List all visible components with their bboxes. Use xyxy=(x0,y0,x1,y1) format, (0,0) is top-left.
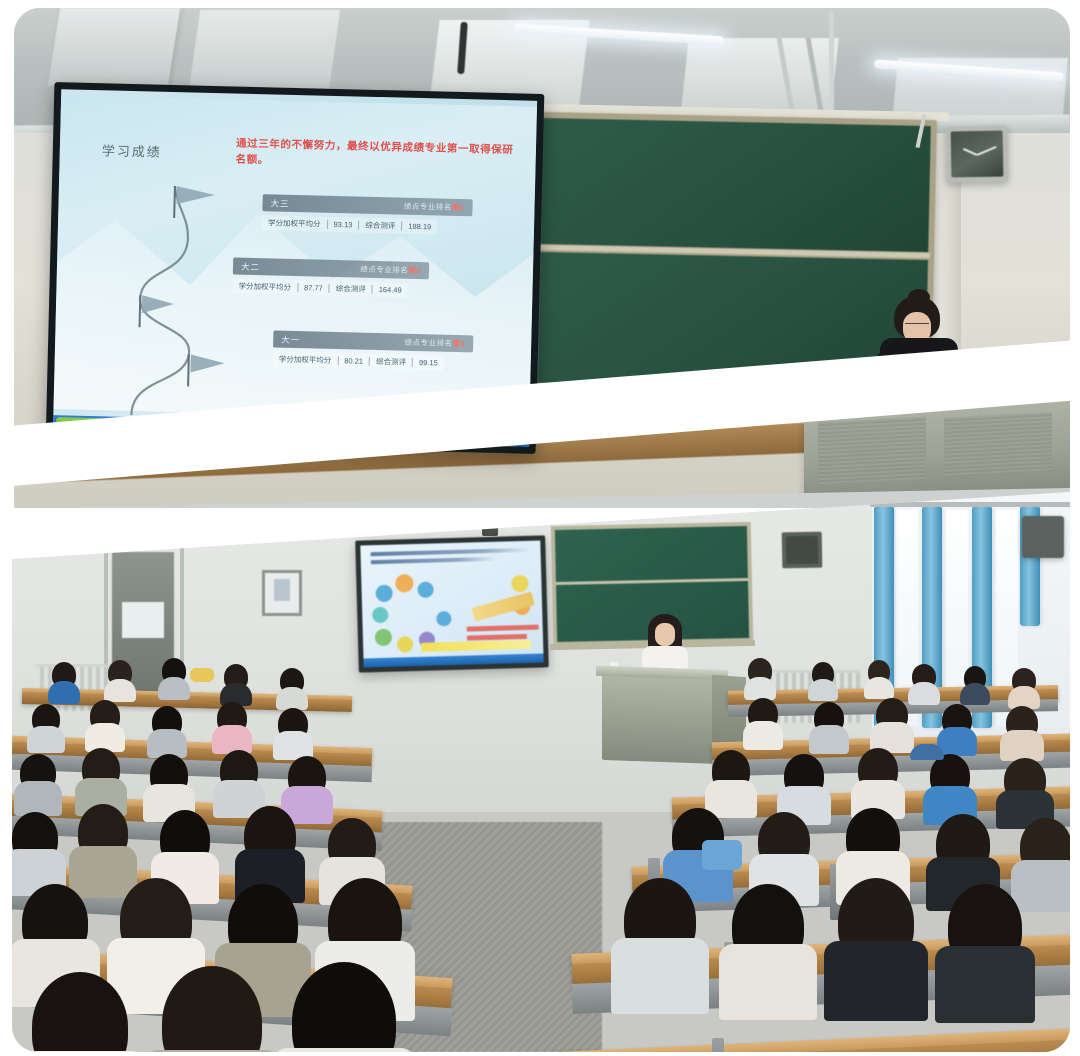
metric-value: 188.19 xyxy=(408,222,431,232)
photo-bottom-lecture-audience xyxy=(12,492,1070,1052)
student xyxy=(90,700,120,732)
student xyxy=(162,658,186,684)
student xyxy=(1004,758,1046,802)
student xyxy=(228,884,298,966)
slide-row-year-label: 大一 xyxy=(281,333,300,345)
slide-row-year-label: 大二 xyxy=(241,260,260,272)
student xyxy=(150,754,188,796)
student xyxy=(936,814,990,874)
student xyxy=(120,878,192,962)
student xyxy=(964,666,986,690)
student xyxy=(280,668,304,694)
podium-vent-grille xyxy=(944,412,1052,478)
projection-screen-frame xyxy=(355,535,549,672)
metric-value: 87.77 xyxy=(304,283,323,292)
student xyxy=(108,660,132,686)
face xyxy=(655,623,675,646)
diagram-bubble xyxy=(397,636,413,652)
student xyxy=(288,756,326,798)
clock-face xyxy=(951,131,1004,178)
projector-pole xyxy=(488,492,492,524)
student xyxy=(12,812,58,864)
backpack xyxy=(190,668,214,682)
slide-row-bar: 大三 绩点专业排名第1 xyxy=(262,194,472,216)
student xyxy=(1020,818,1070,876)
student xyxy=(1012,668,1036,693)
student xyxy=(812,662,834,686)
diagram-bubble xyxy=(511,575,528,592)
baseball-cap xyxy=(910,744,944,760)
student xyxy=(220,750,258,792)
wall-speaker xyxy=(1022,516,1064,558)
student xyxy=(624,878,696,962)
student xyxy=(748,698,778,730)
blackboard-divider xyxy=(556,578,748,585)
door-window xyxy=(122,602,164,638)
student xyxy=(942,704,972,736)
metric-label: 学分加权平均分 xyxy=(238,281,291,293)
student xyxy=(152,706,182,738)
backpack xyxy=(702,840,742,870)
framed-notice xyxy=(262,570,302,616)
podium-bottom xyxy=(602,666,722,764)
ceiling-beam xyxy=(188,10,340,98)
metric-value: 99.15 xyxy=(419,358,438,367)
ceiling-projector xyxy=(482,522,498,536)
blackboard-panel-upper xyxy=(540,118,931,252)
student xyxy=(328,818,376,872)
slide-row-rank: 绩点专业排名第1 xyxy=(404,201,465,213)
metric-label: 综合测评 xyxy=(365,220,395,232)
metric-value: 80.21 xyxy=(344,356,363,365)
student xyxy=(948,884,1022,970)
clock-hour-hand xyxy=(963,148,978,156)
metric-label: 综合测评 xyxy=(336,283,366,295)
student xyxy=(868,660,890,684)
slide-row-bar: 大一 绩点专业排名第3 xyxy=(273,330,473,352)
slide-row-year: 大一 绩点专业排名第3 学分加权平均分 80.21 综合测评 99.15 xyxy=(273,330,474,371)
diagram-highlight-banner xyxy=(421,640,531,652)
student xyxy=(224,664,248,690)
diagram-center-label xyxy=(408,609,450,620)
student xyxy=(838,878,914,966)
diagram-note-line xyxy=(467,625,539,632)
student xyxy=(912,664,936,689)
metric-label: 学分加权平均分 xyxy=(268,217,321,229)
student xyxy=(784,754,824,798)
student xyxy=(1006,706,1038,740)
student xyxy=(217,702,247,734)
metric-label: 综合测评 xyxy=(376,356,406,368)
windows-taskbar[interactable] xyxy=(363,653,543,667)
diagram-bubble xyxy=(375,585,392,602)
student xyxy=(748,658,772,684)
ceiling-beam xyxy=(48,8,180,86)
student xyxy=(20,754,56,792)
metric-label: 学分加权平均分 xyxy=(279,354,332,366)
student xyxy=(32,704,60,734)
bench-post xyxy=(712,1038,724,1052)
slide-heading-lines xyxy=(371,548,532,574)
student xyxy=(814,702,844,734)
student xyxy=(160,810,210,868)
metric-value: 164.49 xyxy=(379,285,402,295)
student xyxy=(930,754,970,798)
slide-title: 学习成绩 xyxy=(102,140,162,160)
diagram-arrow-banner xyxy=(471,591,534,621)
wall-clock xyxy=(782,532,823,569)
slide-row-bar: 大二 绩点专业排名第2 xyxy=(233,257,429,279)
presentation-slide: 学习成绩 通过三年的不懈努力，最终以优异成绩专业第一取得保研名额。 xyxy=(53,95,537,421)
student xyxy=(52,662,76,688)
slide-row-rank: 绩点专业排名第2 xyxy=(360,264,421,276)
student xyxy=(78,804,128,862)
student xyxy=(244,806,296,866)
projection-screen xyxy=(360,541,543,668)
diagram-bubble xyxy=(372,607,388,623)
student xyxy=(82,748,120,790)
desk-row xyxy=(551,1028,1070,1052)
diagram-bubble xyxy=(395,574,413,592)
student xyxy=(328,878,402,966)
student xyxy=(712,750,750,792)
photo-collage: 学习成绩 通过三年的不懈努力，最终以优异成绩专业第一取得保研名额。 xyxy=(0,0,1080,1056)
student xyxy=(858,748,898,792)
student xyxy=(876,698,908,732)
diagram-bubble xyxy=(375,629,392,646)
student xyxy=(278,708,308,740)
slide-row-year-label: 大三 xyxy=(270,197,289,209)
student xyxy=(732,884,804,968)
wall-clock xyxy=(946,125,1009,182)
student xyxy=(846,808,900,868)
metric-value: 93.13 xyxy=(333,220,352,229)
clock-minute-hand xyxy=(977,146,997,156)
slide-headline: 通过三年的不懈努力，最终以优异成绩专业第一取得保研名额。 xyxy=(235,136,516,175)
student xyxy=(758,812,810,870)
podium-vent-grille xyxy=(818,417,926,485)
curtain-rail xyxy=(870,502,1070,507)
diagram-bubble xyxy=(417,582,433,598)
glasses xyxy=(905,323,929,329)
slide-row-year: 大二 绩点专业排名第2 学分加权平均分 87.77 综合测评 164.49 xyxy=(232,257,429,298)
slide-row-rank: 绩点专业排名第3 xyxy=(404,337,465,349)
student xyxy=(22,884,88,960)
slide-row-year: 大三 绩点专业排名第1 学分加权平均分 93.13 综合测评 188.19 xyxy=(262,194,473,235)
